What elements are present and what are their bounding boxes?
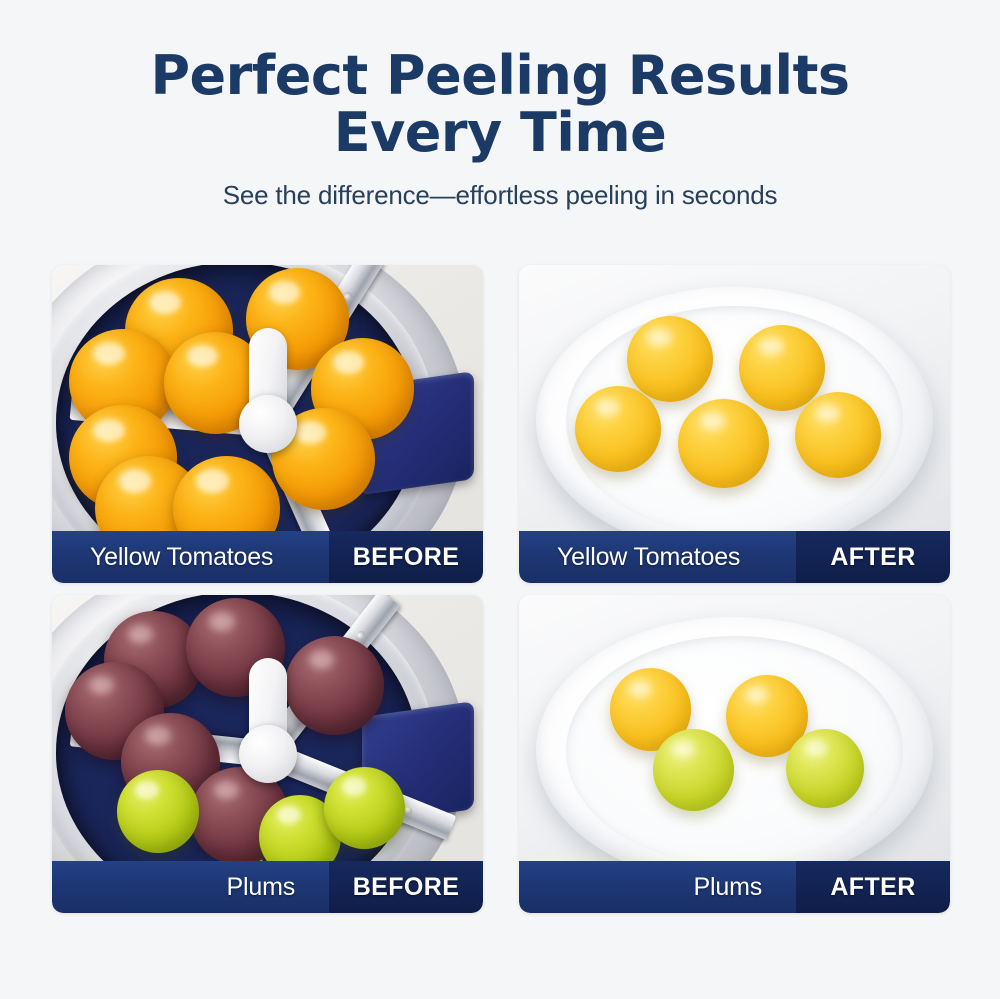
fruit-peeled-tomato <box>795 392 881 478</box>
comparison-grid: Yellow Tomatoes BEFORE Yellow Tomatoes A… <box>52 265 950 913</box>
card-label-bar: Yellow Tomatoes BEFORE <box>52 531 483 583</box>
card-label-name: Yellow Tomatoes <box>519 531 796 583</box>
fruit-peeled-plum <box>653 729 735 812</box>
card-label-name: Yellow Tomatoes <box>52 531 329 583</box>
comparison-card-plums-after: Plums AFTER <box>519 595 950 913</box>
fruit-peeled-tomato <box>627 316 713 402</box>
header: Perfect Peeling Results Every Time See t… <box>0 0 1000 211</box>
page-title: Perfect Peeling Results Every Time <box>0 47 1000 161</box>
card-label-name: Plums <box>52 861 329 913</box>
fruit-green-plum <box>324 767 406 850</box>
comparison-card-tomatoes-after: Yellow Tomatoes AFTER <box>519 265 950 583</box>
fruit-peeled-tomato <box>575 386 661 472</box>
headline-line-1: Perfect Peeling Results <box>60 47 940 104</box>
card-label-state: BEFORE <box>329 861 483 913</box>
fruit-green-plum <box>117 770 199 853</box>
card-label-bar: Yellow Tomatoes AFTER <box>519 531 950 583</box>
card-label-bar: Plums BEFORE <box>52 861 483 913</box>
card-label-state: BEFORE <box>329 531 483 583</box>
fruit-peeled-plum <box>786 729 864 809</box>
card-label-bar: Plums AFTER <box>519 861 950 913</box>
peeler-center-hub <box>239 395 297 453</box>
fruit-plum <box>285 636 384 735</box>
card-label-state: AFTER <box>796 531 950 583</box>
peeler-center-hub <box>239 725 297 783</box>
fruit-peeled-tomato <box>678 399 769 488</box>
comparison-card-tomatoes-before: Yellow Tomatoes BEFORE <box>52 265 483 583</box>
fruit-peeled-tomato <box>739 325 825 411</box>
comparison-card-plums-before: Plums BEFORE <box>52 595 483 913</box>
card-label-state: AFTER <box>796 861 950 913</box>
page-subtitle: See the difference—effortless peeling in… <box>0 180 1000 211</box>
card-label-name: Plums <box>519 861 796 913</box>
headline-line-2: Every Time <box>60 104 940 161</box>
